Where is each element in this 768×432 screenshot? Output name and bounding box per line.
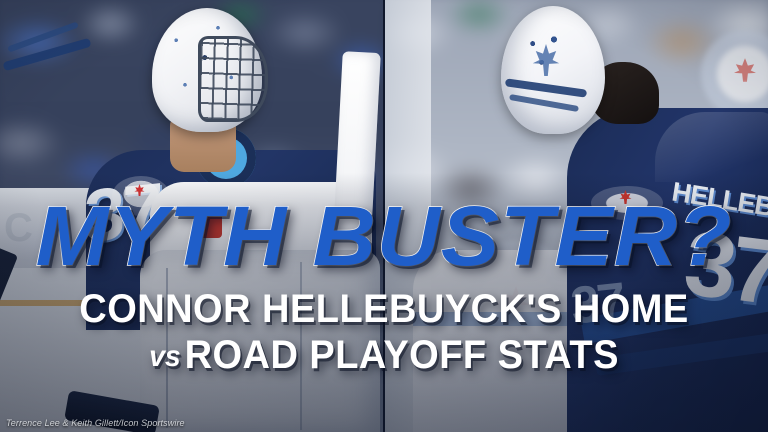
subtitle-block: CONNOR HELLEBUYCK'S HOME vsROAD PLAYOFF … <box>0 289 768 375</box>
subtitle-line-2: vsROAD PLAYOFF STATS <box>19 335 749 375</box>
title-block: MYTH BUSTER? CONNOR HELLEBUYCK'S HOME vs… <box>0 196 768 375</box>
subtitle-vs-label: vs <box>149 340 181 373</box>
subtitle-line-1: CONNOR HELLEBUYCK'S HOME <box>19 289 749 329</box>
subtitle-line-2-text: ROAD PLAYOFF STATS <box>185 333 619 377</box>
headline-myth-buster: MYTH BUSTER? <box>0 196 768 277</box>
sports-thumbnail-graphic: C 37 <box>0 0 768 432</box>
goalie-mask-cage-icon <box>198 36 268 122</box>
photo-credit: Terrence Lee & Keith Gillett/Icon Sports… <box>6 418 185 428</box>
